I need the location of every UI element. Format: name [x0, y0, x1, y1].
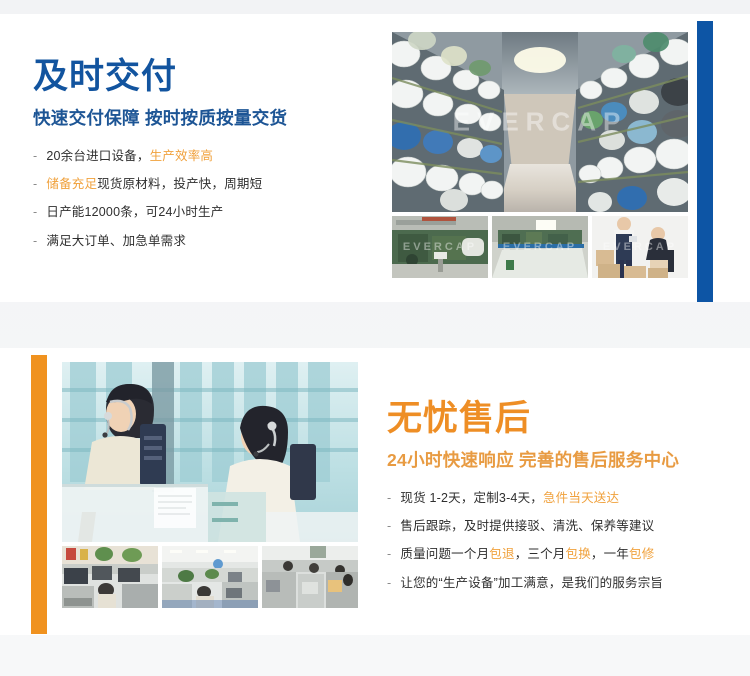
service-bullet-list: - 现货 1-2天，定制3-4天，急件当天送达 - 售后跟踪，及时提供接驳、清洗…	[387, 490, 727, 592]
bullet-highlight-3: 包修	[629, 547, 654, 561]
marketing-detail-page: 及时交付 快速交付保障 按时按质按量交货 - 20余台进口设备，生产效率高 - …	[0, 0, 750, 676]
cubicles-photo: EVERCAP	[262, 546, 358, 608]
orange-accent-bar	[31, 355, 47, 634]
list-item: - 日产能12000条，可24小时生产	[33, 204, 373, 221]
bullet-dash: -	[387, 490, 391, 507]
service-thumbnail-row: EVERCAP	[62, 546, 358, 608]
list-item: - 售后跟踪，及时提供接驳、清洗、保养等建议	[387, 518, 727, 535]
delivery-media-group: EVERCAP EVERCAP	[392, 32, 688, 278]
service-text-block: 无忧售后 24小时快速响应 完善的售后服务中心 - 现货 1-2天，定制3-4天…	[387, 400, 727, 603]
factory-floor-photo: EVERCAP	[492, 216, 588, 278]
bullet-dash: -	[387, 546, 391, 563]
bullet-dash: -	[33, 204, 37, 221]
list-item: - 现货 1-2天，定制3-4天，急件当天送达	[387, 490, 727, 507]
open-office-photo: EVERCAP	[162, 546, 258, 608]
service-subtitle: 24小时快速响应 完善的售后服务中心	[387, 450, 727, 471]
bullet-text: 现货 1-2天，定制3-4天，急件当天送达	[400, 490, 727, 507]
bullet-highlight: 生产效率高	[150, 149, 214, 163]
service-media-group: EVERCAP	[62, 362, 358, 608]
service-title: 无忧售后	[387, 400, 727, 439]
blue-accent-bar	[697, 21, 713, 302]
bullet-dash: -	[33, 148, 37, 165]
bullet-highlight: 急件当天送达	[543, 491, 619, 505]
packing-workers-photo: EVERCAP	[592, 216, 688, 278]
bullet-highlight-2: 包换	[566, 547, 591, 561]
yarn-warehouse-photo: EVERCAP	[392, 32, 688, 212]
bullet-text: 满足大订单、加急单需求	[46, 233, 373, 250]
delivery-bullet-list: - 20余台进口设备，生产效率高 - 储备充足现货原材料，投产快，周期短 - 日…	[33, 148, 373, 250]
list-item: - 储备充足现货原材料，投产快，周期短	[33, 176, 373, 193]
list-item: - 20余台进口设备，生产效率高	[33, 148, 373, 165]
bullet-text: 售后跟踪，及时提供接驳、清洗、保养等建议	[400, 518, 727, 535]
bullet-text: 让您的“生产设备”加工满意，是我们的服务宗旨	[400, 575, 727, 592]
bullet-text: 储备充足现货原材料，投产快，周期短	[46, 176, 373, 193]
bullet-dash: -	[387, 575, 391, 592]
delivery-text-block: 及时交付 快速交付保障 按时按质按量交货 - 20余台进口设备，生产效率高 - …	[33, 58, 373, 261]
delivery-title: 及时交付	[33, 58, 373, 97]
list-item: - 质量问题一个月包退，三个月包换，一年包修	[387, 546, 727, 563]
list-item: - 满足大订单、加急单需求	[33, 233, 373, 250]
bullet-highlight: 储备充足	[46, 177, 97, 191]
bullet-highlight: 包退	[489, 547, 514, 561]
bullet-dash: -	[33, 176, 37, 193]
bullet-text: 日产能12000条，可24小时生产	[46, 204, 373, 221]
bullet-text: 20余台进口设备，生产效率高	[46, 148, 373, 165]
office-desks-photo: EVERCAP	[62, 546, 158, 608]
call-center-agents-photo: EVERCAP	[62, 362, 358, 542]
bullet-dash: -	[33, 233, 37, 250]
delivery-thumbnail-row: EVERCAP EVERCAP	[392, 216, 688, 278]
list-item: - 让您的“生产设备”加工满意，是我们的服务宗旨	[387, 575, 727, 592]
bullet-text: 质量问题一个月包退，三个月包换，一年包修	[400, 546, 727, 563]
bullet-dash: -	[387, 518, 391, 535]
delivery-subtitle: 快速交付保障 按时按质按量交货	[33, 108, 373, 129]
textile-machine-photo: EVERCAP	[392, 216, 488, 278]
